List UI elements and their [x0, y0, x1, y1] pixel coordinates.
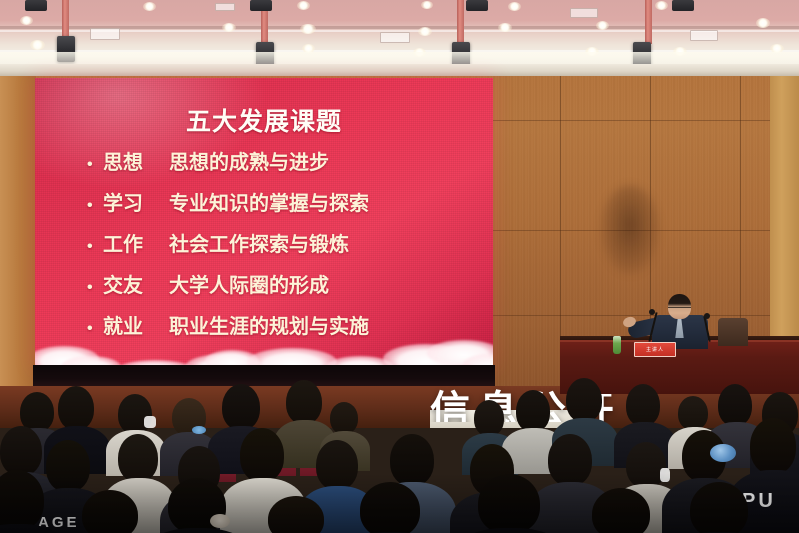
- ceiling-vent: [90, 28, 120, 40]
- glasses-icon: [668, 307, 691, 312]
- presenter-chair: [718, 318, 748, 346]
- ceiling-spotlight: [143, 2, 156, 11]
- audience-seating: AGE TS: [0, 378, 799, 533]
- ceiling-spotlight: [30, 40, 45, 50]
- stage-light-fixture: [466, 0, 488, 11]
- bullet-dot-icon: •: [87, 157, 103, 173]
- bullet-key: 思想: [103, 146, 169, 175]
- hair-tie: [710, 444, 736, 462]
- ceiling-vent: [380, 32, 410, 43]
- stage-light-pole: [645, 0, 652, 44]
- auditorium-photo: 五大发展课题 • 思想 思想的成熟与进步 • 学习 专业知识的掌握与探索 • 工…: [0, 0, 799, 533]
- bullet-description: 大学人际圈的形成: [169, 269, 329, 298]
- bullet-key: 工作: [103, 228, 169, 257]
- ceiling: [0, 0, 799, 72]
- list-item: • 交友 大学人际圈的形成: [87, 269, 487, 298]
- wall-stain: [600, 185, 660, 275]
- hair-tie: [192, 426, 206, 434]
- stage-light-pole: [457, 0, 464, 44]
- ceiling-spotlight: [756, 18, 770, 28]
- face-mask: [660, 468, 670, 482]
- bullet-key: 学习: [103, 187, 169, 216]
- bullet-key: 交友: [103, 269, 169, 298]
- ceiling-vent: [215, 3, 235, 11]
- ceiling-spotlight: [508, 2, 521, 11]
- wall-cornice: [0, 64, 799, 76]
- stage-light-fixture: [25, 0, 47, 11]
- stage-light-fixture: [250, 0, 272, 11]
- ceiling-spotlight: [300, 24, 316, 34]
- ceiling-spotlight: [596, 21, 609, 30]
- stage-light-pole: [62, 0, 69, 38]
- bullet-description: 专业知识的掌握与探索: [169, 187, 369, 216]
- microphone-head: [649, 309, 655, 315]
- water-bottle: [613, 336, 621, 354]
- ceiling-spotlight: [418, 27, 432, 36]
- slide-bullet-list: • 思想 思想的成熟与进步 • 学习 专业知识的掌握与探索 • 工作 社会工作探…: [87, 146, 487, 351]
- ceiling-spotlight: [222, 23, 236, 32]
- bullet-description: 思想的成熟与进步: [169, 146, 329, 175]
- left-wall-panel: [0, 70, 36, 400]
- ceiling-vent: [690, 30, 718, 41]
- slide-title: 五大发展课题: [35, 102, 493, 138]
- ceiling-spotlight: [421, 1, 433, 9]
- ceiling-spotlight: [655, 1, 668, 10]
- list-item: • 学习 专业知识的掌握与探索: [87, 187, 487, 216]
- bullet-description: 社会工作探索与锻炼: [169, 228, 349, 257]
- list-item: • 工作 社会工作探索与锻炼: [87, 228, 487, 257]
- bullet-dot-icon: •: [87, 280, 103, 296]
- ceiling-spotlight: [297, 1, 310, 10]
- slide-cloud-graphic: [35, 322, 493, 368]
- led-presentation-screen[interactable]: 五大发展课题 • 思想 思想的成熟与进步 • 学习 专业知识的掌握与探索 • 工…: [35, 78, 493, 368]
- ceiling-spotlight: [20, 16, 33, 25]
- ceiling-vent: [570, 8, 598, 18]
- stage-light-fixture: [672, 0, 694, 11]
- microphone-head: [704, 313, 710, 319]
- list-item: • 思想 思想的成熟与进步: [87, 146, 487, 175]
- hair-tie: [210, 514, 230, 528]
- bullet-dot-icon: •: [87, 239, 103, 255]
- name-plate: 主讲人: [634, 342, 676, 357]
- ceiling-spotlight: [498, 23, 512, 32]
- bullet-dot-icon: •: [87, 198, 103, 214]
- face-mask: [144, 416, 156, 428]
